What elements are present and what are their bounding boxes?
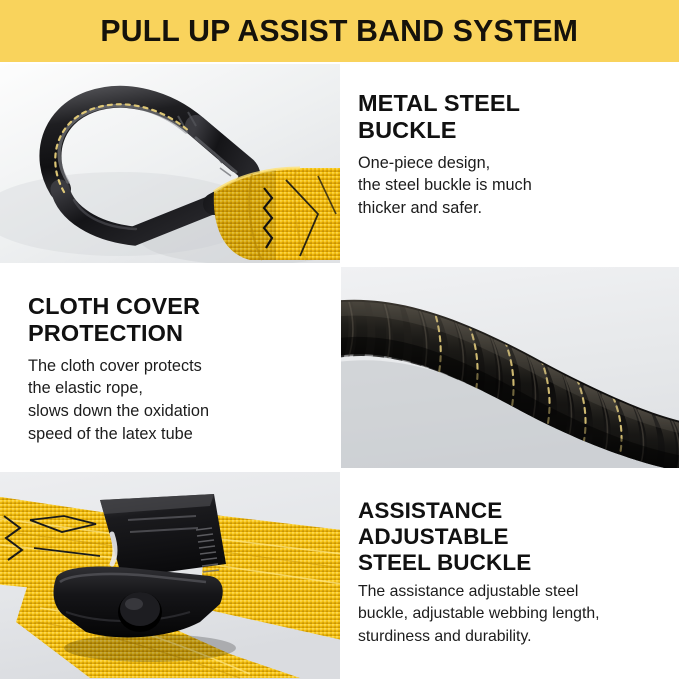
- feature-text-cloth-cover-protection: CLOTH COVER PROTECTION The cloth cover p…: [0, 267, 340, 468]
- feature-body-assistance-adjustable-steel-buckle: The assistance adjustable steel buckle, …: [358, 581, 665, 647]
- feature-text-metal-steel-buckle: METAL STEEL BUCKLE One-piece design, the…: [341, 64, 679, 263]
- feature-text-assistance-adjustable-steel-buckle: ASSISTANCE ADJUSTABLE STEEL BUCKLE The a…: [341, 472, 679, 679]
- feature-title-assistance-adjustable-steel-buckle: ASSISTANCE ADJUSTABLE STEEL BUCKLE: [358, 498, 665, 576]
- carabiner-illustration: [0, 64, 340, 263]
- photo-assistance-adjustable-steel-buckle: [0, 472, 340, 679]
- feature-body-metal-steel-buckle: One-piece design, the steel buckle is mu…: [358, 152, 665, 220]
- cam-buckle-illustration: [0, 472, 340, 679]
- braided-rope-illustration: [341, 267, 679, 468]
- header-banner: PULL UP ASSIST BAND SYSTEM: [0, 0, 679, 62]
- page-title: PULL UP ASSIST BAND SYSTEM: [101, 14, 579, 49]
- feature-body-cloth-cover-protection: The cloth cover protects the elastic rop…: [28, 355, 322, 446]
- feature-title-cloth-cover-protection: CLOTH COVER PROTECTION: [28, 293, 322, 348]
- feature-title-metal-steel-buckle: METAL STEEL BUCKLE: [358, 90, 665, 145]
- photo-cloth-cover-protection: [341, 267, 679, 468]
- photo-metal-steel-buckle: [0, 64, 340, 263]
- product-infographic: PULL UP ASSIST BAND SYSTEM: [0, 0, 679, 679]
